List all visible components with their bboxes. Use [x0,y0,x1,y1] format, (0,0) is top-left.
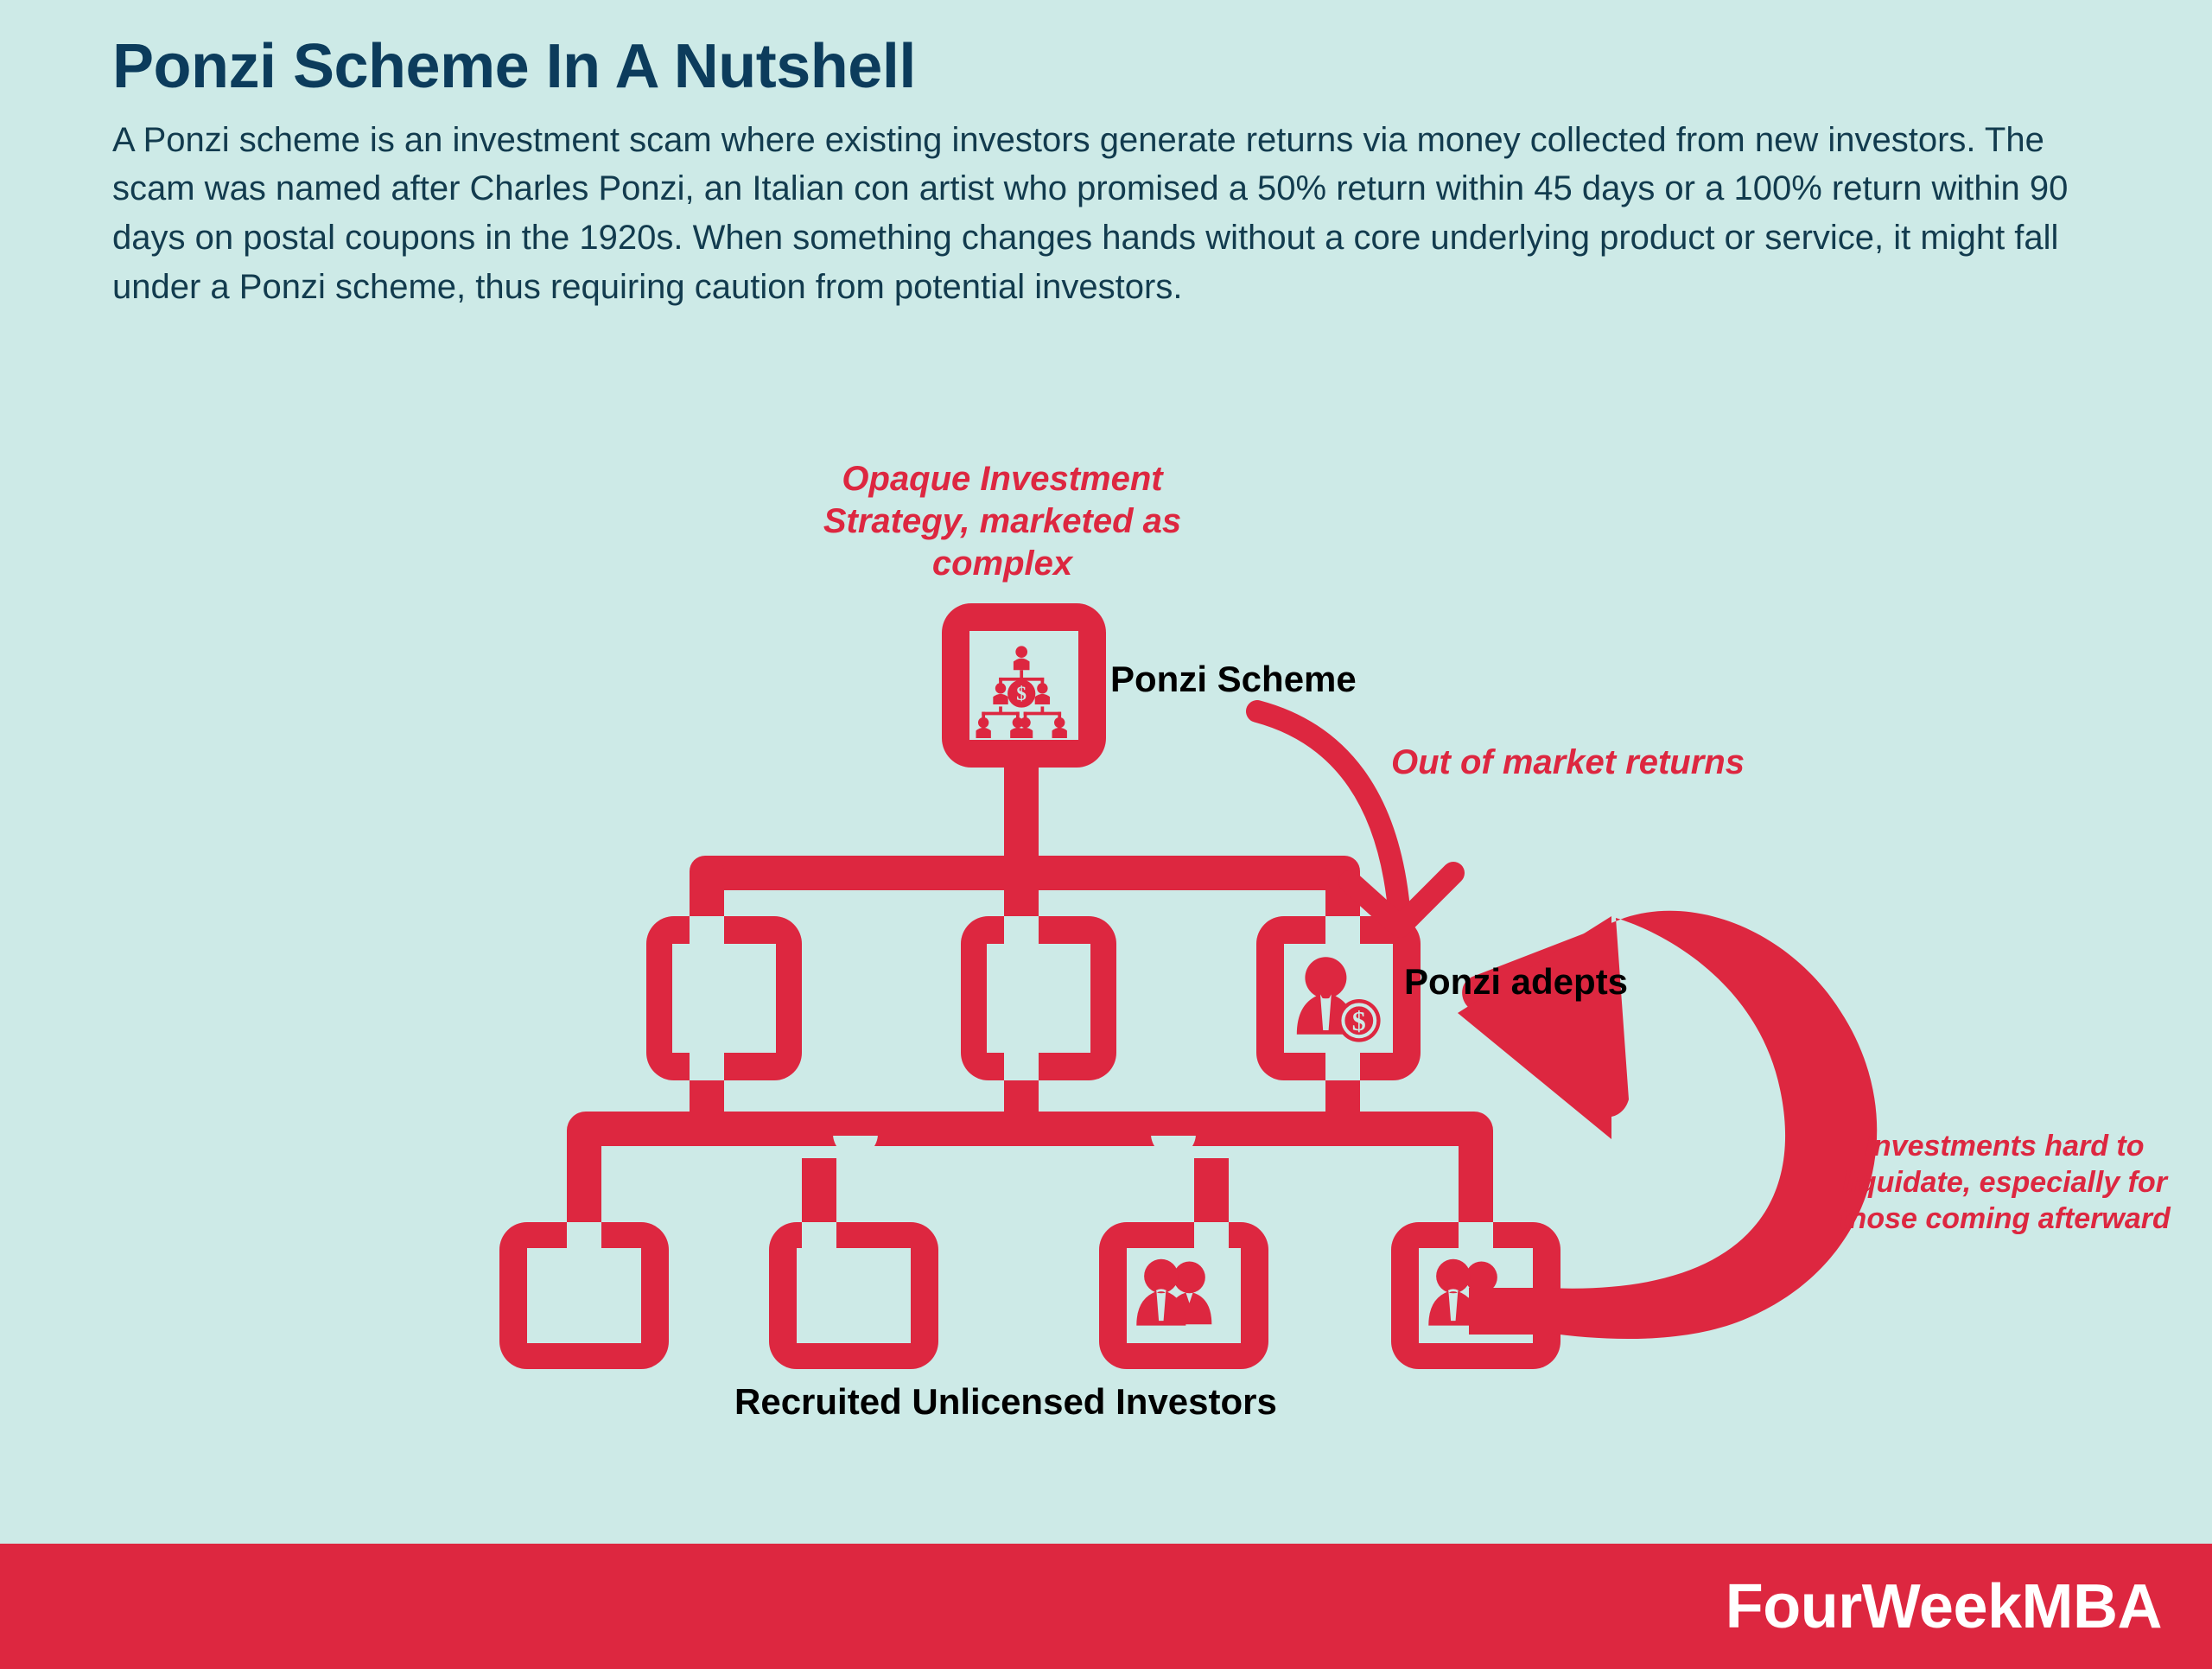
callout-out-of-market-returns: Out of market returns [1391,742,1840,784]
brand-logo-text: FourWeekMBA [1726,1571,2162,1642]
node-level3-1[interactable] [499,1222,669,1369]
label-ponzi-adepts: Ponzi adepts [1404,961,1628,1003]
label-ponzi-scheme: Ponzi Scheme [1110,659,1357,700]
callout-opaque-strategy: Opaque Investment Strategy, marketed as … [778,458,1227,584]
node-level3-3[interactable] [1099,1222,1268,1369]
ponzi-scheme-diagram: $ [0,0,2212,1669]
node-ponzi-adepts[interactable] [1256,916,1421,1080]
node-level3-2[interactable] [769,1222,938,1369]
node-ponzi-scheme[interactable] [942,603,1106,768]
label-recruited-unlicensed-investors: Recruited Unlicensed Investors [734,1381,1277,1423]
node-level2-2[interactable] [961,916,1116,1080]
footer-bar: FourWeekMBA [0,1544,2212,1669]
callout-hard-to-liquidate: Investments hard to liquidate, especiall… [1810,1128,2199,1237]
node-level2-1[interactable] [646,916,802,1080]
